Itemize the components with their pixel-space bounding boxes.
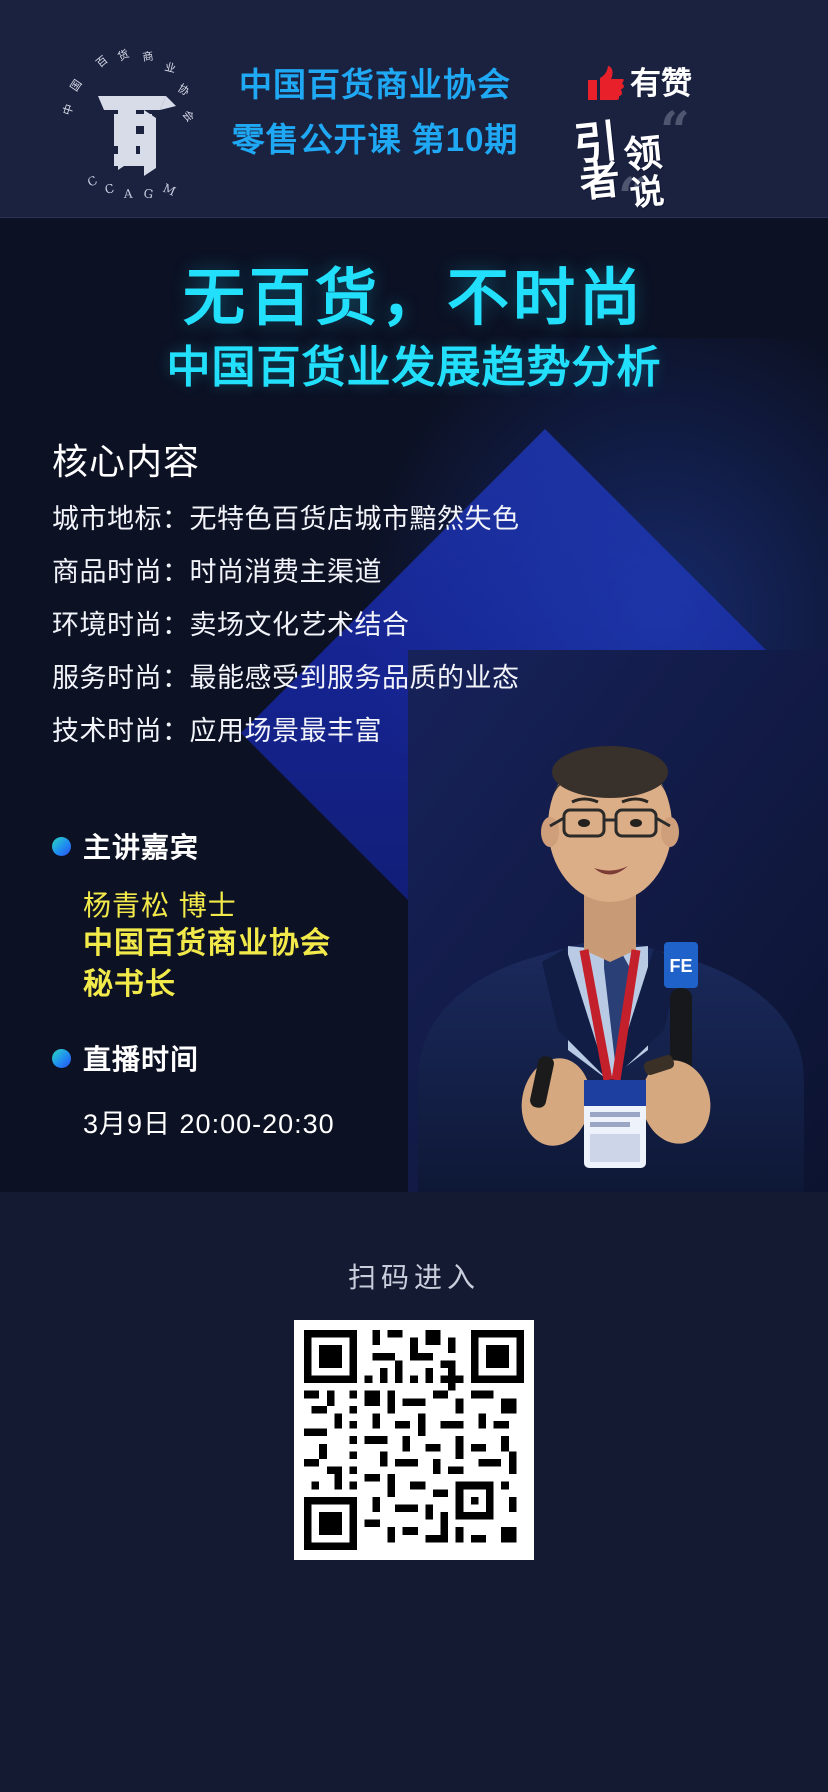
speaker-label-row: 主讲嘉宾 — [52, 826, 331, 866]
program-char-2: 领 — [622, 134, 664, 176]
header-title-line1: 中国百货商业协会 — [210, 62, 540, 109]
svg-text:C: C — [85, 173, 99, 190]
speaker-section: 主讲嘉宾 杨青松 博士 中国百货商业协会 秘书长 — [52, 826, 331, 1005]
live-label: 直播时间 — [83, 1038, 199, 1078]
svg-text:国: 国 — [68, 77, 85, 93]
youzan-logo: 有赞 — [588, 66, 692, 100]
speaker-organization: 中国百货商业协会 — [83, 924, 331, 965]
header-bar: 百 货 商 业 协 会 国 中 C C A G M — [0, 0, 828, 218]
svg-text:FE: FE — [669, 956, 692, 976]
core-content-section: 核心内容 城市地标：无特色百货店城市黯然失色 商品时尚：时尚消费主渠道 环境时尚… — [52, 444, 520, 771]
svg-text:A: A — [123, 187, 133, 198]
speaker-role: 秘书长 — [83, 965, 331, 1006]
partner-logos: 有赞 “ “ 引 领 者 说 — [560, 50, 790, 210]
core-content-line: 商品时尚：时尚消费主渠道 — [52, 559, 520, 586]
qr-code[interactable] — [294, 1320, 534, 1560]
live-time-value: 3月9日 20:00-20:30 — [83, 1102, 335, 1141]
ccagm-logo: 百 货 商 业 协 会 国 中 C C A G M — [48, 48, 208, 198]
main-title-block: 无百货，不时尚 中国百货业发展趋势分析 — [0, 268, 828, 390]
header-title: 中国百货商业协会 零售公开课 第10期 — [210, 62, 540, 164]
main-panel: FE 无百货，不时尚 中国百货业发展趋势分析 核心内容 城市地标：无特色百货店城… — [0, 218, 828, 1192]
page-title: 无百货，不时尚 — [0, 268, 828, 330]
speaker-name: 杨青松 博士 — [83, 888, 331, 924]
thumbs-up-icon — [588, 66, 624, 100]
youzan-brand-text: 有赞 — [630, 68, 692, 99]
svg-text:货: 货 — [115, 48, 131, 64]
bullet-dot-icon — [52, 837, 71, 856]
svg-text:M: M — [161, 181, 178, 198]
live-time-section: 直播时间 3月9日 20:00-20:30 — [52, 1038, 335, 1141]
scan-instruction: 扫码进入 — [0, 1256, 828, 1296]
program-logo: “ “ 引 领 者 说 — [574, 110, 724, 210]
svg-text:C: C — [103, 181, 115, 197]
svg-text:业: 业 — [163, 60, 177, 75]
footer-panel: 扫码进入 — [0, 1192, 828, 1792]
program-char-4: 说 — [628, 174, 665, 211]
quote-open-icon: “ — [660, 106, 690, 158]
program-char-3: 者 — [578, 160, 622, 204]
live-label-row: 直播时间 — [52, 1038, 335, 1078]
core-content-line: 环境时尚：卖场文化艺术结合 — [52, 612, 520, 639]
core-content-line: 技术时尚：应用场景最丰富 — [52, 718, 520, 745]
svg-text:会: 会 — [180, 108, 197, 125]
core-content-line: 服务时尚：最能感受到服务品质的业态 — [52, 665, 520, 692]
svg-text:协: 协 — [175, 81, 192, 99]
svg-text:百: 百 — [94, 53, 111, 70]
svg-text:G: G — [142, 186, 154, 198]
speaker-label: 主讲嘉宾 — [83, 826, 199, 866]
speaker-details: 杨青松 博士 中国百货商业协会 秘书长 — [83, 888, 331, 1005]
svg-text:中: 中 — [60, 102, 76, 116]
header-title-line2: 零售公开课 第10期 — [210, 117, 540, 164]
core-content-line: 城市地标：无特色百货店城市黯然失色 — [52, 506, 520, 533]
core-content-heading: 核心内容 — [52, 444, 520, 480]
page-subtitle: 中国百货业发展趋势分析 — [0, 346, 828, 390]
svg-text:商: 商 — [141, 49, 154, 64]
bullet-dot-icon — [52, 1049, 71, 1068]
